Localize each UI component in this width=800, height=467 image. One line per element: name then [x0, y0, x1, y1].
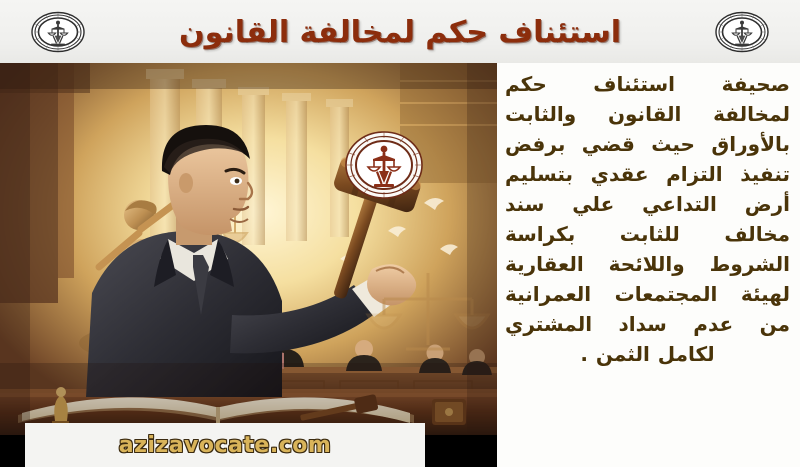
justice-scales-emblem-left: [30, 11, 86, 53]
body-text: صحيفة استئناف حكم لمخالفة القانون والثاب…: [505, 69, 790, 369]
courtroom-illustration: [0, 63, 497, 435]
frame-bottom-left: [0, 435, 25, 467]
justice-scales-emblem-right: [714, 11, 770, 53]
page-title: استئناف حكم لمخالفة القانون: [179, 18, 621, 48]
website-url[interactable]: azizavocate.com: [119, 433, 332, 458]
website-banner[interactable]: azizavocate.com: [25, 423, 425, 467]
legal-poster: استئناف حكم لمخالفة القانون: [0, 0, 800, 467]
body-text-panel: صحيفة استئناف حكم لمخالفة القانون والثاب…: [497, 63, 800, 467]
poster-header: استئناف حكم لمخالفة القانون: [0, 0, 800, 63]
justice-scales-emblem-overlay: [344, 129, 424, 201]
frame-bottom-mid: [425, 435, 497, 467]
